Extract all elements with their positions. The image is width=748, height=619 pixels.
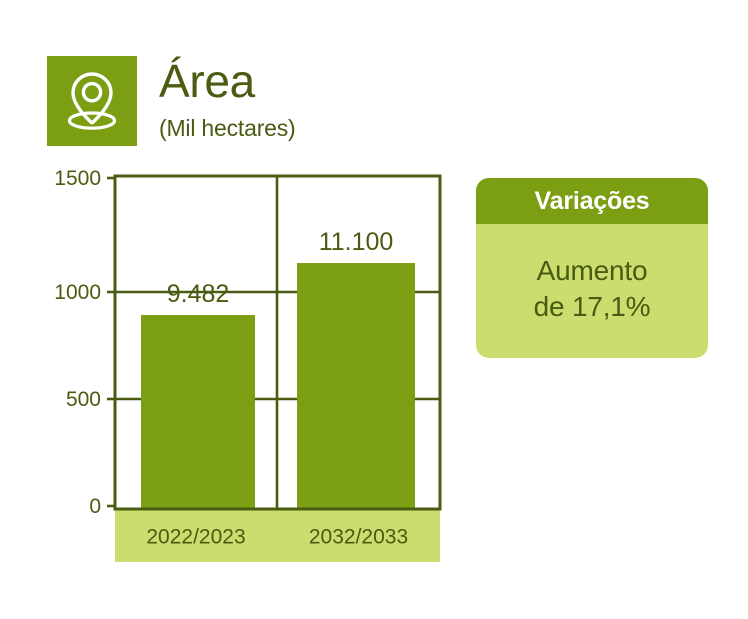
variation-text-line-2: de 17,1% — [534, 289, 651, 325]
variations-card-body: Aumento de 17,1% — [476, 224, 708, 358]
variations-card: Variações Aumento de 17,1% — [476, 178, 708, 358]
y-axis-tick-labels: 050010001500 — [54, 167, 101, 518]
variations-card-header: Variações — [476, 178, 708, 224]
category-label-2022-2023: 2022/2023 — [146, 526, 245, 549]
variations-card-title: Variações — [535, 187, 650, 216]
y-tick-label-500: 500 — [66, 388, 101, 411]
category-label-2032-2033: 2032/2033 — [309, 526, 408, 549]
y-tick-label-1500: 1500 — [54, 167, 101, 190]
bar-value-label-2022-2023: 9.482 — [167, 280, 230, 308]
y-tick-label-0: 0 — [89, 495, 101, 518]
bar-value-label-2032-2033: 11.100 — [319, 228, 394, 256]
variation-text-line-1: Aumento — [537, 253, 648, 289]
bar-2022-2023 — [141, 315, 255, 509]
y-tick-label-1000: 1000 — [54, 281, 101, 304]
bar-2032-2033 — [297, 263, 415, 509]
